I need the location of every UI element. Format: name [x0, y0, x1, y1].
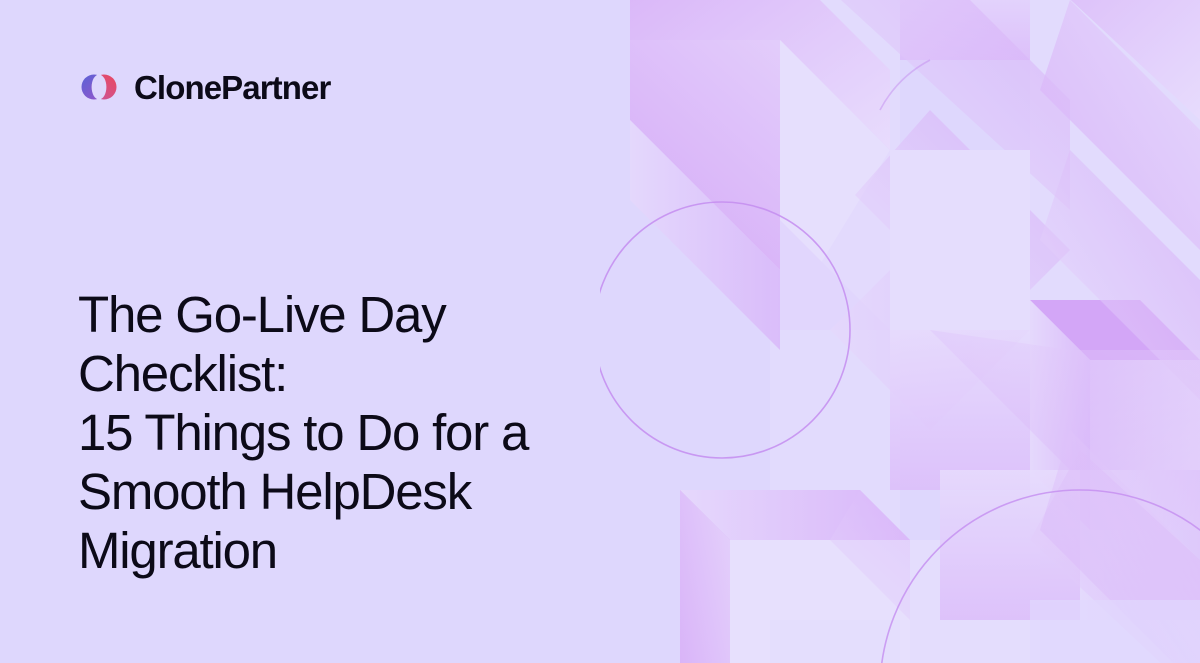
title-line: Smooth HelpDesk — [78, 462, 638, 521]
brand-name: ClonePartner — [134, 71, 330, 104]
title-line: Checklist: — [78, 344, 638, 403]
title-line: The Go-Live Day — [78, 285, 638, 344]
isometric-cubes-pattern — [600, 0, 1200, 663]
page-title: The Go-Live Day Checklist: 15 Things to … — [78, 285, 638, 580]
title-line: 15 Things to Do for a — [78, 403, 638, 462]
title-line: Migration — [78, 521, 638, 580]
brand-logo[interactable]: ClonePartner — [78, 66, 330, 108]
slide-canvas: ClonePartner The Go-Live Day Checklist: … — [0, 0, 1200, 663]
two-overlapping-circles-icon — [78, 66, 120, 108]
